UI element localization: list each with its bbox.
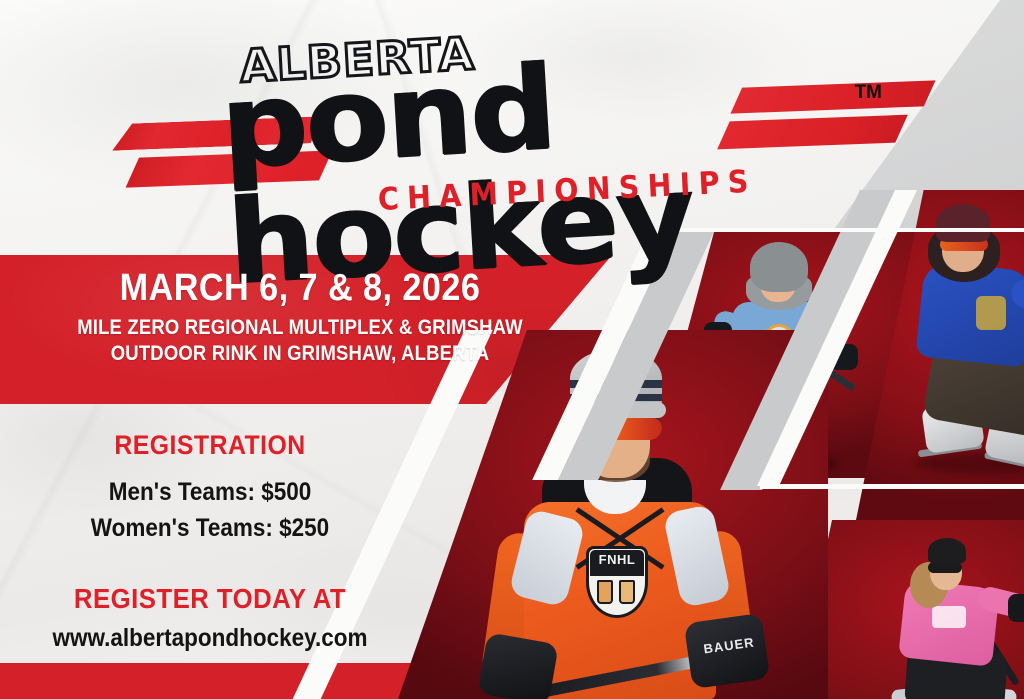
cta-website-url[interactable]: www.albertapondhockey.com [21, 624, 399, 653]
figure-pink-jersey-skater [866, 538, 1024, 699]
hoodie-emblem [976, 296, 1006, 330]
left-glove [477, 632, 559, 699]
right-glove [1008, 594, 1024, 622]
event-dates: MARCH 6, 7 & 8, 2026 [30, 269, 570, 309]
panel-divider-line-bottom [760, 484, 1024, 489]
call-to-action-block: REGISTER TODAY AT www.albertapondhockey.… [0, 583, 420, 653]
registration-heading: REGISTRATION [17, 430, 403, 461]
registration-womens-price: Women's Teams: $250 [21, 511, 399, 547]
registration-mens-price: Men's Teams: $500 [21, 475, 399, 511]
venue-line-1: MILE ZERO REGIONAL MULTIPLEX & GRIMSHAW [36, 315, 564, 341]
beanie [928, 538, 966, 564]
logo-wordmark-text: pond hockey [217, 28, 943, 302]
crest-mug-right [619, 580, 635, 604]
logo-lockup: ALBERTA pond hockey TM CHAMPIONSHIPS [120, 34, 910, 234]
date-banner-text: MARCH 6, 7 & 8, 2026 MILE ZERO REGIONAL … [0, 269, 600, 366]
jersey-logo [932, 606, 966, 628]
logo-trademark-symbol: TM [855, 82, 882, 104]
venue-line-2: OUTDOOR RINK IN GRIMSHAW, ALBERTA [36, 341, 564, 367]
cta-heading: REGISTER TODAY AT [17, 583, 403, 615]
crest-mug-left [597, 580, 613, 604]
poster-canvas: ALBERTA pond hockey TM CHAMPIONSHIPS [0, 0, 1024, 699]
registration-block: REGISTRATION Men's Teams: $500 Women's T… [0, 430, 420, 546]
jersey-crest-text: FNHL [590, 552, 644, 567]
beanie [936, 204, 990, 242]
